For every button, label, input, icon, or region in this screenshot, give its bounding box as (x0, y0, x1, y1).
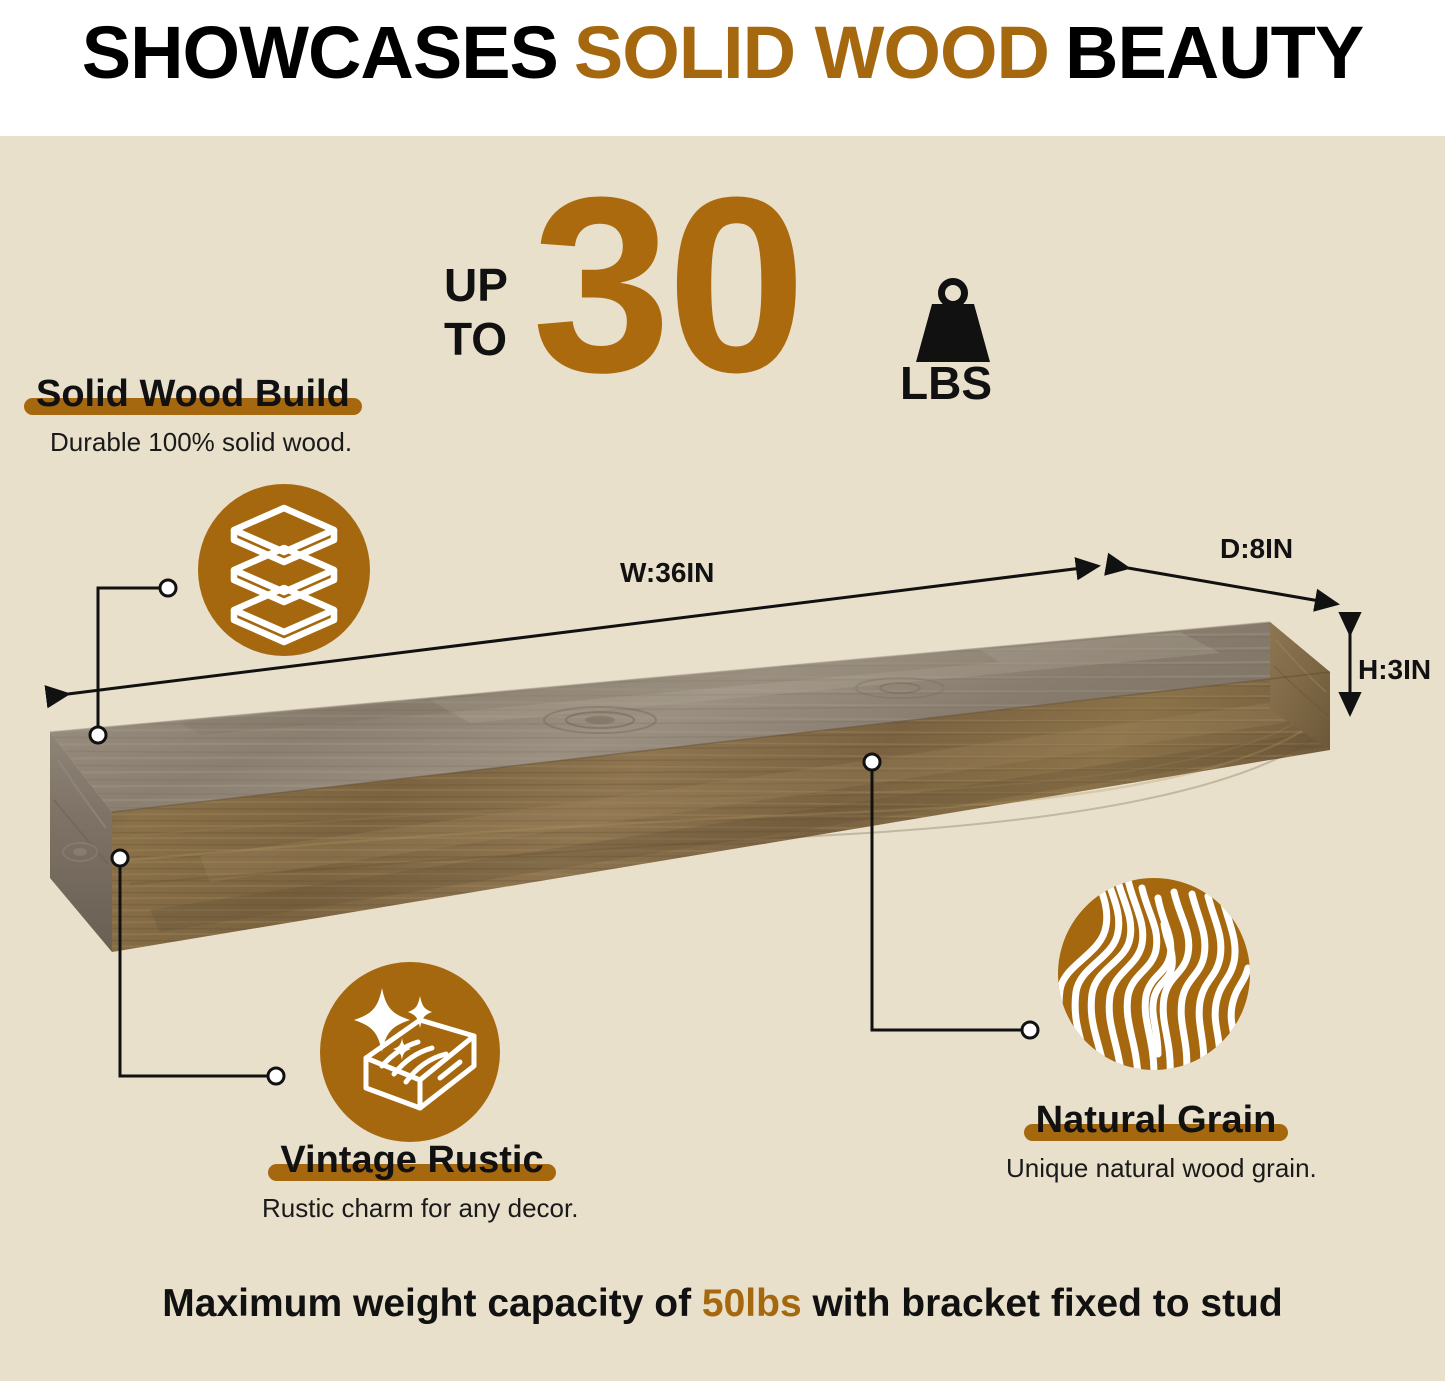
feature-title-text: Natural Grain (1036, 1099, 1277, 1141)
feature-title-natural-grain: Natural Grain (1024, 1098, 1289, 1143)
footer-highlight: 50lbs (702, 1282, 802, 1325)
feature-solid-wood-build: Solid Wood Build Durable 100% solid wood… (24, 372, 362, 458)
page-title: SHOWCASES SOLID WOOD BEAUTY (0, 0, 1445, 108)
footer-prefix: Maximum weight capacity of (162, 1282, 702, 1325)
feature-vintage-rustic: Vintage Rustic Rustic charm for any deco… (262, 1138, 562, 1224)
title-segment-3: BEAUTY (1065, 16, 1363, 90)
lbs-label: LBS (900, 356, 992, 410)
dimension-label-depth: D:8IN (1220, 533, 1293, 565)
feature-desc-solid-wood-build: Durable 100% solid wood. (50, 427, 362, 458)
feature-title-solid-wood-build: Solid Wood Build (24, 372, 362, 417)
footer-suffix: with bracket fixed to stud (802, 1282, 1283, 1325)
feature-desc-natural-grain: Unique natural wood grain. (1006, 1153, 1306, 1184)
dimension-label-height: H:3IN (1358, 654, 1431, 686)
title-segment-2: SOLID WOOD (574, 16, 1049, 90)
stacked-planks-icon (198, 484, 370, 656)
capacity-number: 30 (532, 160, 802, 410)
sparkle-plank-icon (320, 962, 500, 1142)
dimension-label-width: W:36IN (620, 557, 714, 589)
weight-capacity-block: UP TO 30 LBS (432, 178, 1042, 408)
feature-desc-vintage-rustic: Rustic charm for any decor. (262, 1193, 562, 1224)
title-segment-1: SHOWCASES (82, 16, 558, 90)
feature-natural-grain: Natural Grain Unique natural wood grain. (1006, 1098, 1306, 1184)
infographic-canvas: SHOWCASES SOLID WOOD BEAUTY (0, 0, 1445, 1381)
up-word: UP (444, 259, 508, 311)
footer-caption: Maximum weight capacity of 50lbs with br… (0, 1282, 1445, 1326)
feature-title-text: Solid Wood Build (36, 373, 350, 415)
feature-title-text: Vintage Rustic (280, 1139, 543, 1181)
feature-title-vintage-rustic: Vintage Rustic (268, 1138, 555, 1183)
wood-grain-icon (1058, 878, 1250, 1070)
weight-icon (910, 278, 996, 368)
